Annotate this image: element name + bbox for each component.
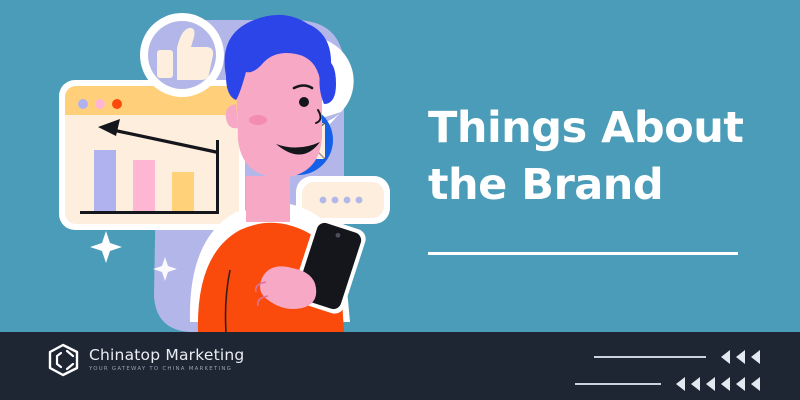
blush [249, 115, 267, 125]
thumb-base [157, 50, 173, 78]
decoration-arrow-icon [721, 377, 730, 391]
banner-root: Things About the Brand Chinatop Marketin… [0, 0, 800, 400]
decoration-arrow-icon [751, 350, 760, 364]
chat-dot [332, 197, 339, 204]
browser-dot-red [112, 99, 122, 109]
chat-dot [320, 197, 327, 204]
thumbs-up-badge [140, 13, 224, 97]
chart-baseline [80, 211, 218, 214]
browser-dot-purple [78, 99, 88, 109]
logo-wordmark: Chinatop Marketing [89, 347, 244, 364]
decoration-arrow-icon [691, 377, 700, 391]
browser-dot-pink [95, 99, 105, 109]
headline-line-2: the Brand [428, 157, 768, 214]
logo-text-block: Chinatop Marketing YOUR GATEWAY TO CHINA… [89, 347, 244, 373]
chart-bar-3 [172, 172, 194, 212]
headline-block: Things About the Brand [428, 100, 768, 214]
decoration-row-1 [594, 350, 760, 364]
decoration-line-1 [594, 356, 706, 358]
chart-bar-1 [94, 150, 116, 212]
headline-line-1: Things About [428, 100, 768, 157]
hero-illustration [40, 0, 400, 332]
browser-window [59, 80, 245, 230]
chart-bar-2 [133, 160, 155, 212]
decoration-row-2 [575, 377, 760, 391]
decoration-arrow-icon [676, 377, 685, 391]
decoration-arrow-icon [736, 377, 745, 391]
logo-hexagon-c-icon [48, 343, 80, 377]
footer-decoration [560, 340, 770, 392]
decoration-arrow-icon [706, 377, 715, 391]
decoration-arrow-icon [721, 350, 730, 364]
decoration-arrow-icon [736, 350, 745, 364]
brand-logo[interactable]: Chinatop Marketing YOUR GATEWAY TO CHINA… [48, 343, 244, 377]
logo-tagline: YOUR GATEWAY TO CHINA MARKETING [89, 366, 244, 373]
chat-dot [344, 197, 351, 204]
eye [299, 97, 309, 107]
decoration-arrow-icon [751, 377, 760, 391]
headline-rule [428, 252, 738, 255]
chat-dot [356, 197, 363, 204]
decoration-line-2 [575, 383, 661, 385]
